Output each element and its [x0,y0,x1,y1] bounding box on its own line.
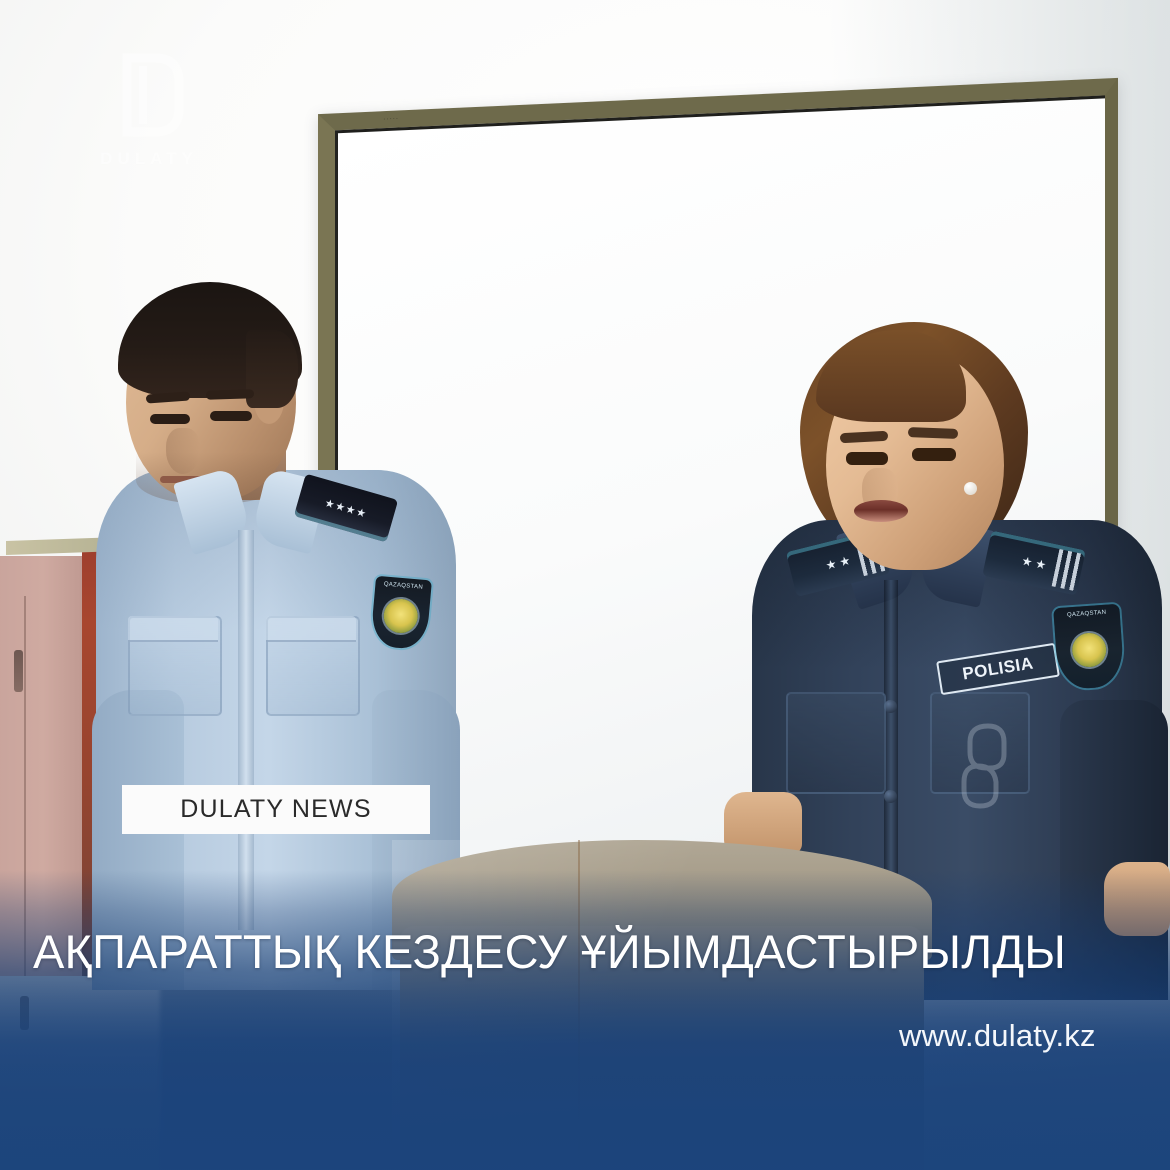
female-patch-title: QAZAQSTAN [1054,609,1120,620]
national-emblem-icon [1071,632,1107,668]
news-tag-label: DULATY NEWS [180,795,371,824]
male-chest-pocket-right [266,616,360,716]
background-photo: ····· [0,0,1170,1170]
male-chest-pocket-left [128,616,222,716]
cabinet-seam [24,596,26,976]
polisia-label: POLISIA [961,654,1035,685]
news-tag-badge: DULATY NEWS [122,785,430,834]
national-emblem-icon [382,597,419,634]
female-hand-right [1104,862,1170,936]
male-shirt-placket [238,530,254,930]
site-url-label[interactable]: www.dulaty.kz [899,1018,1096,1054]
male-eyebrow-right [206,389,254,400]
whiteboard-brand-label: ····· [383,113,399,123]
male-eye-left [150,414,190,424]
male-pocket-flap [128,616,218,642]
male-patch-title: QAZAQSTAN [375,581,431,592]
male-pocket-flap [266,616,356,642]
cabinet-handle-icon [20,996,29,1030]
male-hair-side [246,330,298,408]
female-eye-left [846,452,888,465]
wooden-lectern [392,840,932,1170]
female-shirt-button [884,790,897,803]
cabinet-latch-icon [14,650,23,692]
cabinet-panel-left [0,556,82,976]
female-chest-pocket-left [786,692,886,794]
female-earring-icon [964,482,977,495]
page-title: АҚПАРАТТЫҚ КЕЗДЕСУ ҰЙЫМДАСТЫРЫЛДЫ [33,924,1066,979]
female-eyebrow-right [908,427,958,439]
female-arm-right [1060,700,1168,1000]
uniform-logo-ghost-icon [944,718,1020,814]
male-eye-right [210,411,252,421]
female-mouth [854,500,908,522]
lectern-highlight [392,840,932,1170]
news-poster: ····· [0,0,1170,1170]
female-eye-right [912,448,956,461]
